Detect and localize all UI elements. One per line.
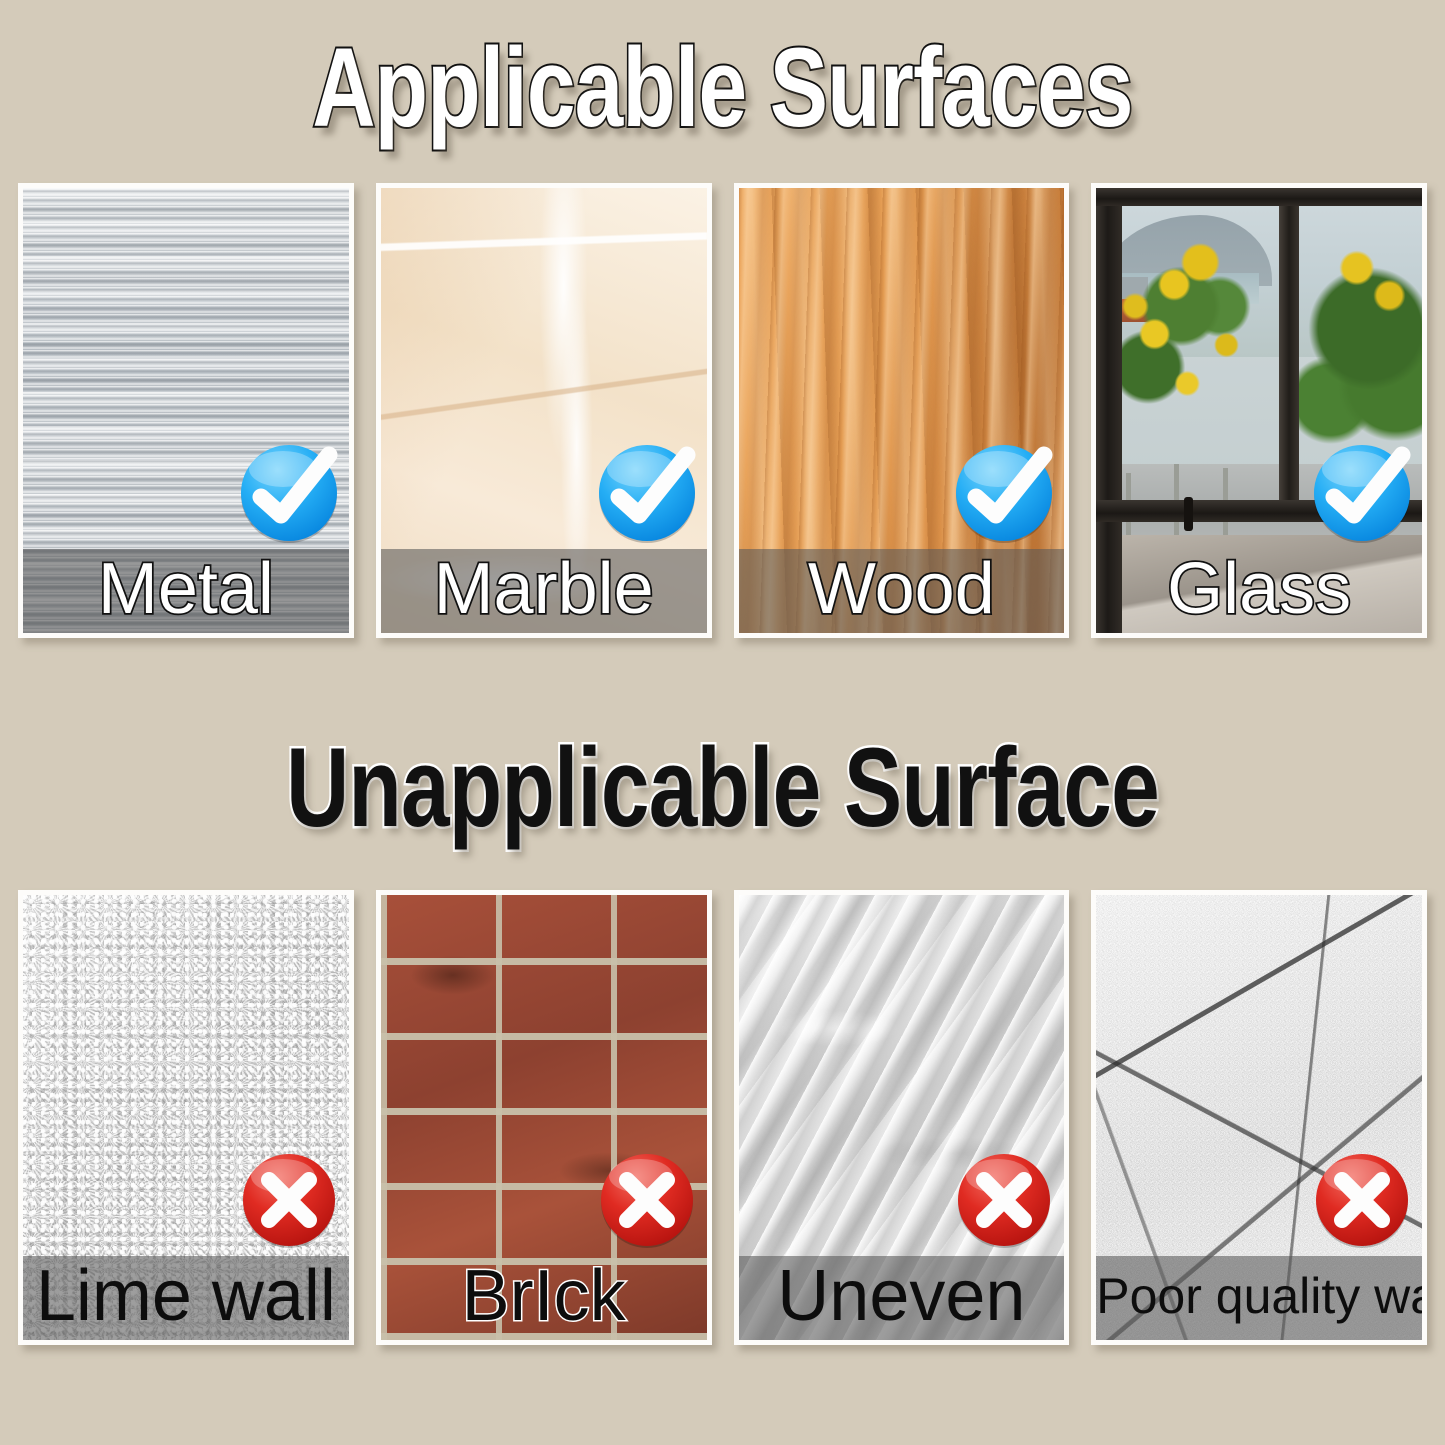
surface-tile-lime-wall[interactable]: Lime wall [18, 890, 354, 1345]
unapplicable-tile-row: Lime wall BrIck [18, 890, 1427, 1345]
check-badge [595, 441, 699, 545]
surface-label-poor-quality-walls: Poor quality walls [1096, 1254, 1422, 1338]
cross-badge [595, 1148, 699, 1252]
surface-label-metal: Metal [23, 547, 349, 631]
surface-tile-poor-quality-walls[interactable]: Poor quality walls [1091, 890, 1427, 1345]
check-badge [237, 441, 341, 545]
unapplicable-section-title: Unapplicable Surface [159, 722, 1286, 854]
surface-label-marble: Marble [381, 547, 707, 631]
cross-badge [237, 1148, 341, 1252]
applicable-section-title: Applicable Surfaces [159, 22, 1286, 154]
applicable-tile-row: Metal Marble [18, 183, 1427, 638]
surface-label-lime-wall: Lime wall [23, 1254, 349, 1338]
surface-label-wood: Wood [739, 547, 1065, 631]
surface-tile-brick[interactable]: BrIck [376, 890, 712, 1345]
surface-tile-marble[interactable]: Marble [376, 183, 712, 638]
surface-label-uneven: Uneven [739, 1254, 1065, 1338]
cross-badge [952, 1148, 1056, 1252]
surface-tile-metal[interactable]: Metal [18, 183, 354, 638]
surface-label-brick: BrIck [381, 1254, 707, 1338]
window-frame-top [1096, 188, 1422, 206]
surface-label-glass: Glass [1096, 547, 1422, 631]
cross-badge [1310, 1148, 1414, 1252]
window-mullion [1279, 188, 1299, 508]
window-handle [1184, 497, 1193, 531]
surface-tile-uneven[interactable]: Uneven [734, 890, 1070, 1345]
check-badge [1310, 441, 1414, 545]
check-badge [952, 441, 1056, 545]
surface-tile-wood[interactable]: Wood [734, 183, 1070, 638]
surface-tile-glass[interactable]: Glass [1091, 183, 1427, 638]
